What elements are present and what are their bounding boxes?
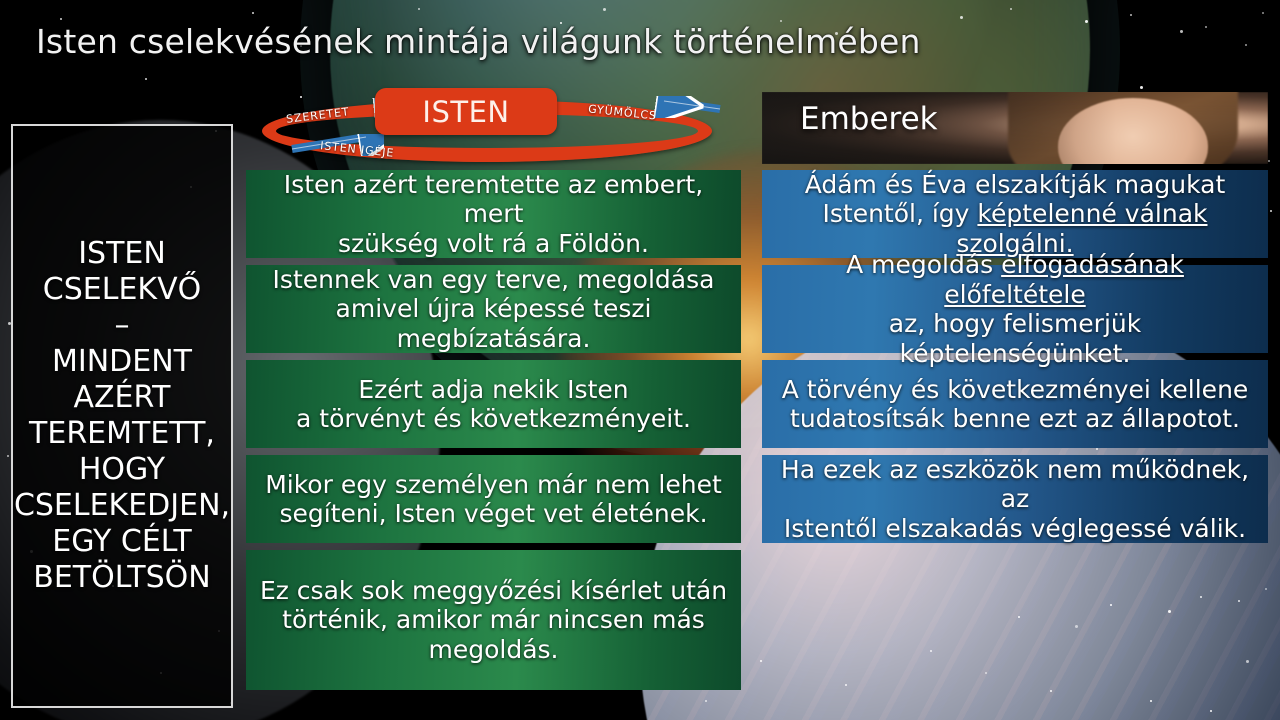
star	[1200, 596, 1202, 598]
star	[1180, 30, 1183, 33]
god-center-label: ISTEN	[422, 95, 509, 129]
arrow-left-gyumolcs-icon	[646, 96, 726, 118]
god-row-text: Ezért adja nekik Isten a törvényt és köv…	[296, 375, 691, 434]
star	[1075, 625, 1078, 628]
star	[1270, 210, 1272, 212]
star	[705, 700, 707, 702]
star	[1010, 8, 1012, 10]
star	[252, 12, 254, 14]
star	[1262, 12, 1264, 14]
table-row: Mikor egy személyen már nem lehet segíte…	[246, 455, 741, 543]
presentation-slide: Isten cselekvésének mintája világunk tör…	[0, 0, 1280, 720]
star	[1140, 86, 1143, 89]
star	[1205, 26, 1207, 28]
star	[930, 650, 932, 652]
people-row-text: Ha ezek az eszközök nem működnek, azIste…	[772, 455, 1258, 544]
people-row-text: A megoldás elfogadásának előfeltételeaz,…	[772, 250, 1258, 368]
people-column-title: Emberek	[800, 101, 938, 137]
table-row: Istennek van egy terve, megoldása amivel…	[246, 265, 741, 353]
table-row: Ez csak sok meggyőzési kísérlet után tör…	[246, 550, 741, 690]
star	[7, 455, 9, 457]
star	[60, 18, 62, 20]
people-actions-column: Ádám és Éva elszakítják magukatIstentől,…	[762, 170, 1268, 550]
star	[845, 684, 847, 686]
star	[1238, 600, 1240, 602]
god-row-text: Istennek van egy terve, megoldása amivel…	[256, 265, 731, 354]
star	[1246, 660, 1249, 663]
star	[145, 78, 147, 80]
star	[1268, 160, 1270, 162]
god-center-box: ISTEN	[375, 88, 557, 135]
god-row-text: Mikor egy személyen már nem lehet segíte…	[265, 470, 722, 529]
sidebar-statement-text: ISTEN CSELEKVŐ – MINDENT AZÉRT TEREMTETT…	[10, 236, 234, 596]
star	[960, 16, 963, 19]
people-row-text: A törvény és következményei kellenetudat…	[782, 375, 1249, 434]
god-actions-column: Isten azért teremtette az embert, mert s…	[246, 170, 741, 697]
god-row-text: Ez csak sok meggyőzési kísérlet után tör…	[260, 576, 727, 665]
table-row: Ádám és Éva elszakítják magukatIstentől,…	[762, 170, 1268, 258]
star	[603, 8, 606, 11]
table-row: A törvény és következményei kellenetudat…	[762, 360, 1268, 448]
star	[1265, 588, 1267, 590]
star	[1210, 710, 1212, 712]
star	[1085, 20, 1088, 23]
star	[418, 8, 420, 10]
star	[985, 672, 987, 674]
god-row-text: Isten azért teremtette az embert, mert s…	[256, 170, 731, 259]
star	[1050, 690, 1052, 692]
people-column-header: Emberek	[762, 92, 1268, 164]
star	[1018, 616, 1020, 618]
people-row-text: Ádám és Éva elszakítják magukatIstentől,…	[772, 170, 1258, 259]
table-row: A megoldás elfogadásának előfeltételeaz,…	[762, 265, 1268, 353]
god-cycle-diagram: SZERETET GYÜMÖLCS ISTEN IGÉJE ISTEN	[258, 86, 718, 168]
table-row: Ha ezek az eszközök nem működnek, azIste…	[762, 455, 1268, 543]
star	[1150, 700, 1152, 702]
page-title: Isten cselekvésének mintája világunk tör…	[36, 22, 921, 61]
star	[760, 660, 762, 662]
star	[1110, 604, 1112, 606]
star	[1168, 610, 1171, 613]
sidebar-statement-box: ISTEN CSELEKVŐ – MINDENT AZÉRT TEREMTETT…	[11, 124, 233, 708]
star	[1130, 14, 1132, 16]
table-row: Ezért adja nekik Isten a törvényt és köv…	[246, 360, 741, 448]
star	[1245, 44, 1247, 46]
table-row: Isten azért teremtette az embert, mert s…	[246, 170, 741, 258]
